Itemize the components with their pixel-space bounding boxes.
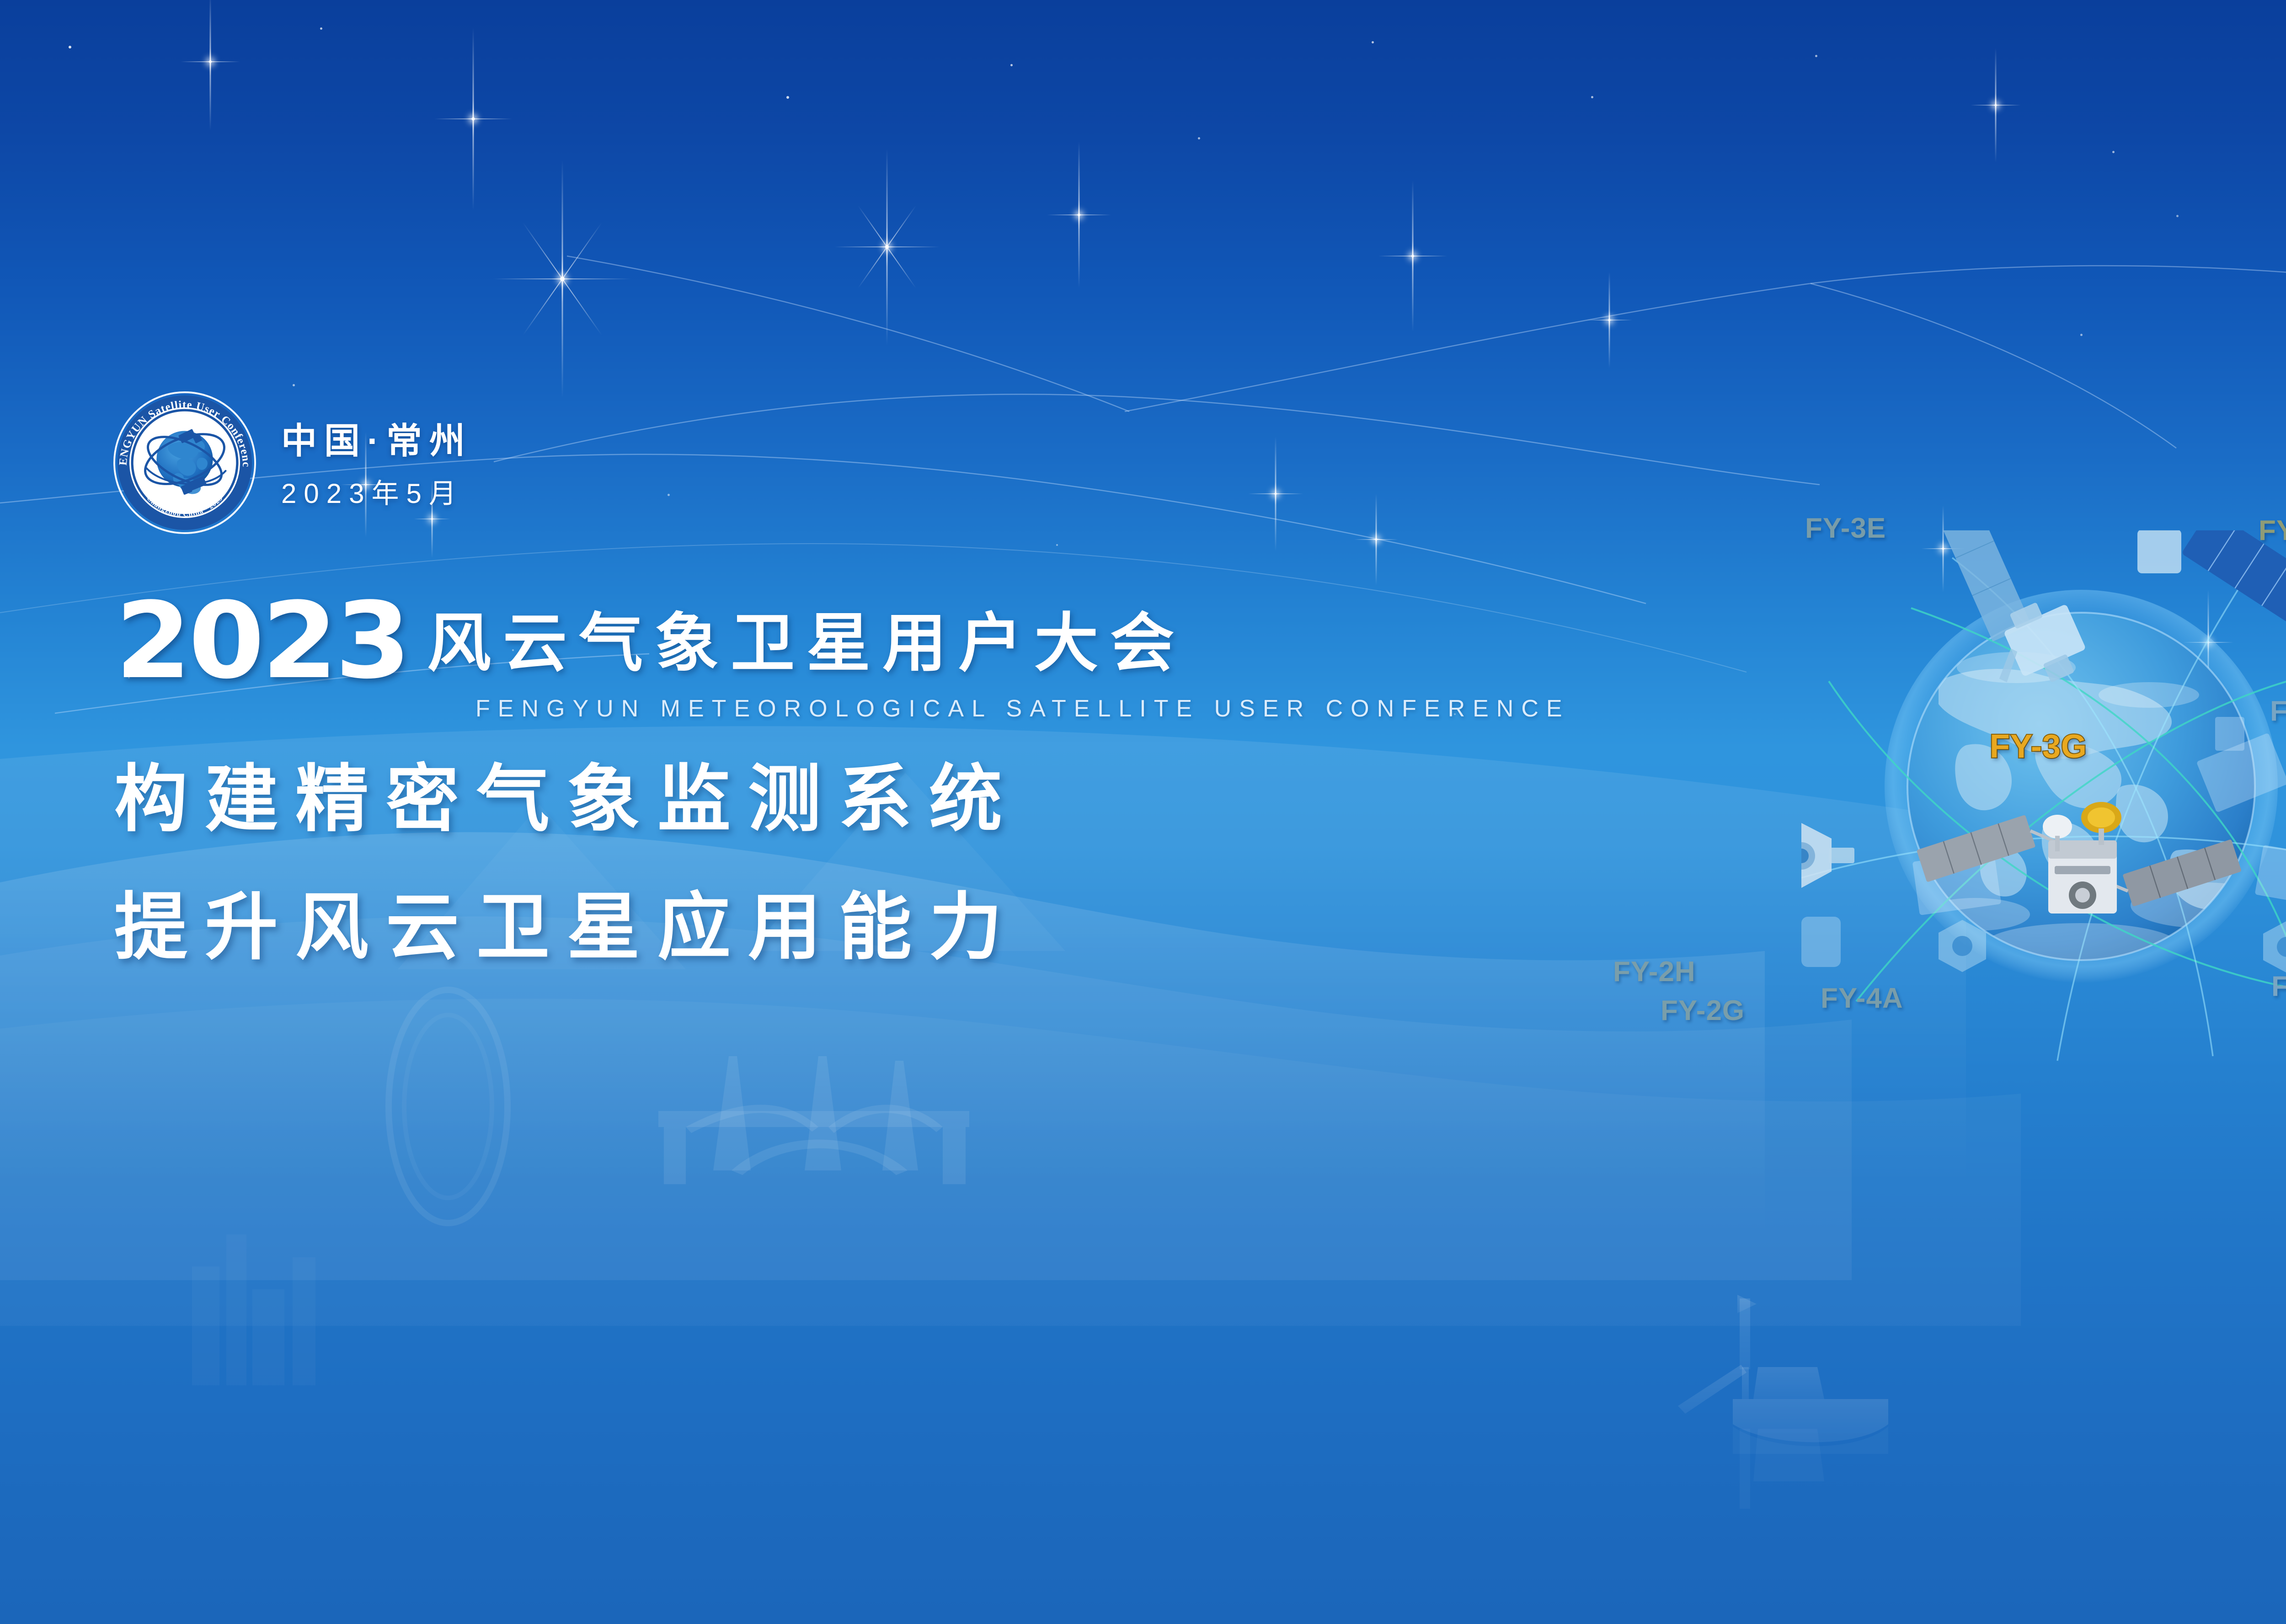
title-english: FENGYUN METEOROLOGICAL SATELLITE USER CO… [475, 695, 1570, 722]
star-dot [1010, 64, 1013, 66]
title-year: 2023 [115, 597, 408, 685]
satellite-label-fy-3e: FY-3E [1805, 512, 1886, 545]
location-date-block: 中国·常州 2023年5月 [281, 423, 472, 511]
satellite-label-fy-2g: FY-2G [1661, 994, 1745, 1027]
satellite-label-fy-3d: FY-3D [2270, 695, 2286, 727]
star-dot [1815, 55, 1817, 57]
fengyun-conference-seal: FENGYUN Satellite User Conference Changz… [112, 390, 257, 535]
star-dot [293, 384, 295, 386]
star-dot [786, 96, 789, 99]
satellite-label-fy-3c: FY-3C [2259, 514, 2286, 547]
conference-logo-badge: FENGYUN Satellite User Conference Changz… [112, 390, 257, 535]
star-dot [2176, 215, 2179, 217]
star-dot [2080, 334, 2083, 336]
satellite-label-fy-3g: FY-3G [1990, 728, 2087, 765]
satellite-label-fy-2h: FY-2H [1613, 956, 1696, 988]
location-text: 中国·常州 [281, 423, 472, 459]
star-dot [1372, 41, 1374, 43]
star-dot [1591, 96, 1593, 98]
date-text: 2023年5月 [281, 471, 472, 511]
satellite-label-fy-4b: FY-4B [2271, 970, 2286, 1003]
slogan-line-1: 构建精密气象监测系统 [114, 763, 1020, 836]
main-title-row: 2023 风云气象卫星用户大会 [115, 597, 1186, 685]
star-dot [69, 46, 71, 48]
star-dot [2112, 151, 2115, 153]
satellite-fy4a [1801, 823, 1854, 888]
satellite-label-fy-4a: FY-4A [1821, 982, 1903, 1015]
star-dot [1056, 544, 1058, 546]
star-dot [668, 494, 670, 496]
star-dot [1198, 137, 1200, 139]
title-chinese: 风云气象卫星用户大会 [427, 611, 1186, 675]
star-dot [320, 27, 322, 30]
slogan-line-2: 提升风云卫星应用能力 [114, 891, 1020, 964]
conference-poster: FY-3E FY-3C FY-3D FY-3G FY-2H FY-2G FY-4… [0, 0, 2286, 1624]
